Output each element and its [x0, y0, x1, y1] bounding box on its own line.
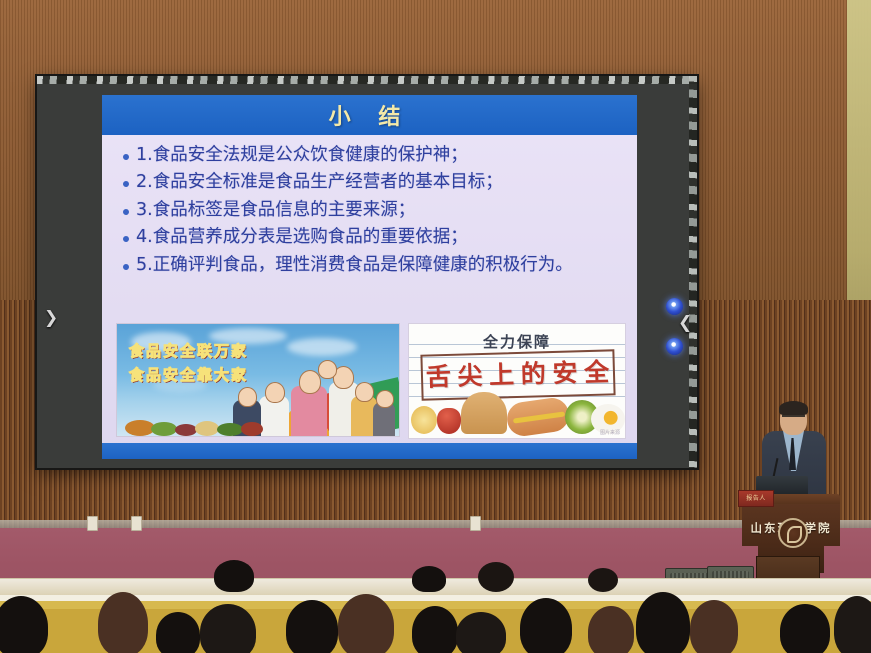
food-corn — [411, 406, 437, 434]
bullet-dot-icon — [123, 181, 129, 187]
slide-image-row: 食品安全联万家 食品安全靠大家 — [116, 323, 626, 439]
speaker-hair — [779, 401, 808, 416]
poster-char: 全 — [584, 352, 611, 389]
list-item: 3.食品标签是食品信息的主要来源； — [120, 199, 623, 221]
audience-head — [156, 612, 200, 653]
projection-screen[interactable]: 小 结 1.食品安全法规是公众饮食健康的保护神； 2.食品安全标准是食品生产经营… — [37, 76, 697, 468]
screen-right-highlight — [689, 76, 697, 468]
audience-head — [412, 606, 458, 653]
audience-head — [200, 604, 256, 653]
name-plate: 报告人 — [738, 490, 774, 507]
list-item: 2.食品安全标准是食品生产经营者的基本目标； — [120, 171, 623, 193]
wall-outlet-plate — [470, 516, 481, 531]
audience-head — [690, 600, 738, 653]
bullet-dot-icon — [123, 209, 129, 215]
food-safety-poster-image: 食品安全联万家 食品安全靠大家 — [116, 323, 400, 437]
audience-hair-bun — [478, 562, 514, 592]
slide-footer-band — [102, 443, 637, 459]
audience-head — [588, 606, 634, 653]
image-credit: 图片来源 — [600, 429, 620, 436]
poster-line-1: 食品安全联万家 — [129, 340, 248, 361]
bullet-text: 2.食品安全标准是食品生产经营者的基本目标； — [136, 171, 503, 193]
bullet-text: 1.食品安全法规是公众饮食健康的保护神； — [136, 144, 468, 166]
presentation-slide: 小 结 1.食品安全法规是公众饮食健康的保护神； 2.食品安全标准是食品生产经营… — [102, 95, 637, 459]
poster-char: 舌 — [425, 357, 452, 394]
list-item: 1.食品安全法规是公众饮食健康的保护神； — [120, 144, 623, 166]
bullet-text: 5.正确评判食品，理性消费食品是保障健康的积极行为。 — [136, 254, 573, 276]
chevron-right-icon[interactable]: ❯ — [44, 310, 58, 327]
audience-head — [214, 560, 254, 592]
poster-top-line: 全力保障 — [409, 331, 625, 352]
poster-char: 的 — [520, 354, 547, 391]
bullet-text: 3.食品标签是食品信息的主要来源； — [136, 199, 415, 221]
audience-head — [338, 594, 394, 653]
poster-main-line: 舌 尖 上 的 安 全 — [422, 349, 613, 396]
food-strawberry — [437, 408, 461, 434]
slide-body: 1.食品安全法规是公众饮食健康的保护神； 2.食品安全标准是食品生产经营者的基本… — [102, 135, 637, 459]
list-item: 4.食品营养成分表是选购食品的重要依据； — [120, 226, 623, 248]
poster-char: 尖 — [457, 356, 484, 393]
audience-head — [636, 592, 690, 653]
bullet-text: 4.食品营养成分表是选购食品的重要依据； — [136, 226, 468, 248]
bullet-dot-icon — [123, 236, 129, 242]
indicator-light-top — [666, 298, 683, 315]
screen-top-highlight — [37, 76, 697, 84]
glasses-icon — [782, 415, 805, 422]
school-crest-icon — [778, 518, 808, 548]
audience-head — [286, 600, 338, 653]
poster-char: 安 — [552, 353, 579, 390]
audience-hair-bun — [588, 568, 618, 592]
lecture-hall-photo: 小 结 1.食品安全法规是公众饮食健康的保护神； 2.食品安全标准是食品生产经营… — [0, 0, 871, 653]
wall-outlet-plate — [87, 516, 98, 531]
audience-head — [456, 612, 506, 653]
name-plate-text: 报告人 — [739, 493, 773, 502]
bullet-dot-icon — [123, 154, 129, 160]
wall-outlet-plate — [131, 516, 142, 531]
audience-head — [520, 598, 572, 653]
poster-char: 上 — [489, 355, 516, 392]
audience-head — [412, 566, 446, 592]
audience-head — [780, 604, 830, 653]
food-bread — [461, 392, 507, 434]
indicator-light-bottom — [666, 338, 683, 355]
bullet-dot-icon — [123, 264, 129, 270]
tongue-tip-safety-poster-image: 全力保障 舌 尖 上 的 安 全 — [408, 323, 626, 439]
audience-head — [98, 592, 148, 653]
page-title: 小 结 — [329, 99, 411, 131]
chevron-left-icon[interactable]: ❮ — [678, 315, 692, 332]
poster-line-2: 食品安全靠大家 — [129, 364, 248, 385]
audience-head — [834, 596, 871, 653]
slide-title-band: 小 结 — [102, 95, 637, 135]
lectern-with-speaker: 报告人 山东现代学院 — [736, 398, 844, 573]
list-item: 5.正确评判食品，理性消费食品是保障健康的积极行为。 — [120, 254, 623, 276]
